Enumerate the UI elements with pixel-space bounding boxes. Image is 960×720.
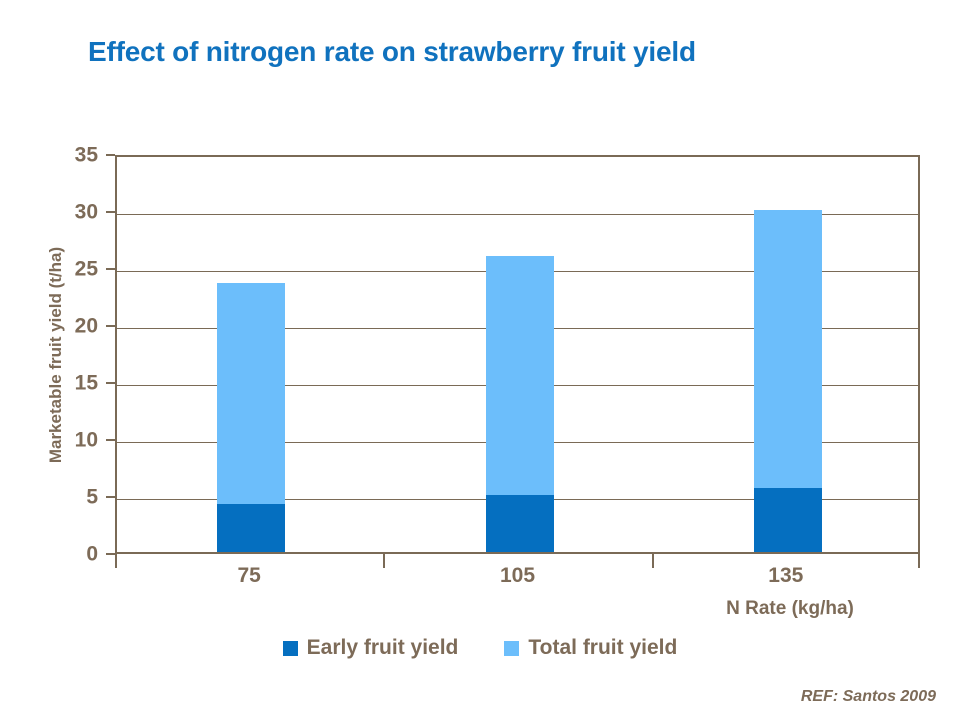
y-tick-label: 0 bbox=[28, 544, 98, 565]
y-tick-label: 5 bbox=[28, 487, 98, 508]
legend-item[interactable]: Early fruit yield bbox=[283, 636, 459, 660]
chart-legend: Early fruit yieldTotal fruit yield bbox=[0, 636, 960, 660]
bar-group[interactable] bbox=[486, 153, 554, 552]
legend-label: Early fruit yield bbox=[307, 636, 459, 660]
legend-swatch-icon bbox=[283, 641, 298, 656]
legend-swatch-icon bbox=[504, 641, 519, 656]
y-tick-label: 20 bbox=[28, 316, 98, 337]
legend-item[interactable]: Total fruit yield bbox=[504, 636, 677, 660]
x-tick-mark bbox=[383, 554, 385, 568]
reference-note: REF: Santos 2009 bbox=[801, 688, 936, 706]
bar-segment-early[interactable] bbox=[486, 495, 554, 552]
x-tick-mark bbox=[115, 554, 117, 568]
x-tick-label: 105 bbox=[438, 564, 598, 588]
y-tick-mark bbox=[106, 439, 115, 441]
y-tick-label: 25 bbox=[28, 259, 98, 280]
bar-group[interactable] bbox=[754, 153, 822, 552]
bar-segment-early[interactable] bbox=[754, 488, 822, 552]
y-tick-mark bbox=[106, 382, 115, 384]
y-tick-mark bbox=[106, 325, 115, 327]
x-tick-label: 75 bbox=[169, 564, 329, 588]
y-tick-label: 30 bbox=[28, 202, 98, 223]
x-tick-mark bbox=[918, 554, 920, 568]
legend-label: Total fruit yield bbox=[528, 636, 677, 660]
x-tick-label: 135 bbox=[706, 564, 866, 588]
bar-segment-early[interactable] bbox=[217, 504, 285, 552]
y-tick-label: 15 bbox=[28, 373, 98, 394]
plot-area bbox=[115, 155, 920, 554]
y-tick-mark bbox=[106, 496, 115, 498]
chart-container: Effect of nitrogen rate on strawberry fr… bbox=[0, 0, 960, 720]
y-tick-mark bbox=[106, 268, 115, 270]
y-tick-label: 35 bbox=[28, 145, 98, 166]
bar-group[interactable] bbox=[217, 153, 285, 552]
y-tick-mark bbox=[106, 211, 115, 213]
x-tick-mark bbox=[652, 554, 654, 568]
y-tick-mark bbox=[106, 553, 115, 555]
y-tick-mark bbox=[106, 154, 115, 156]
y-tick-label: 10 bbox=[28, 430, 98, 451]
x-axis-title: N Rate (kg/ha) bbox=[640, 598, 940, 620]
chart-title: Effect of nitrogen rate on strawberry fr… bbox=[88, 36, 696, 68]
